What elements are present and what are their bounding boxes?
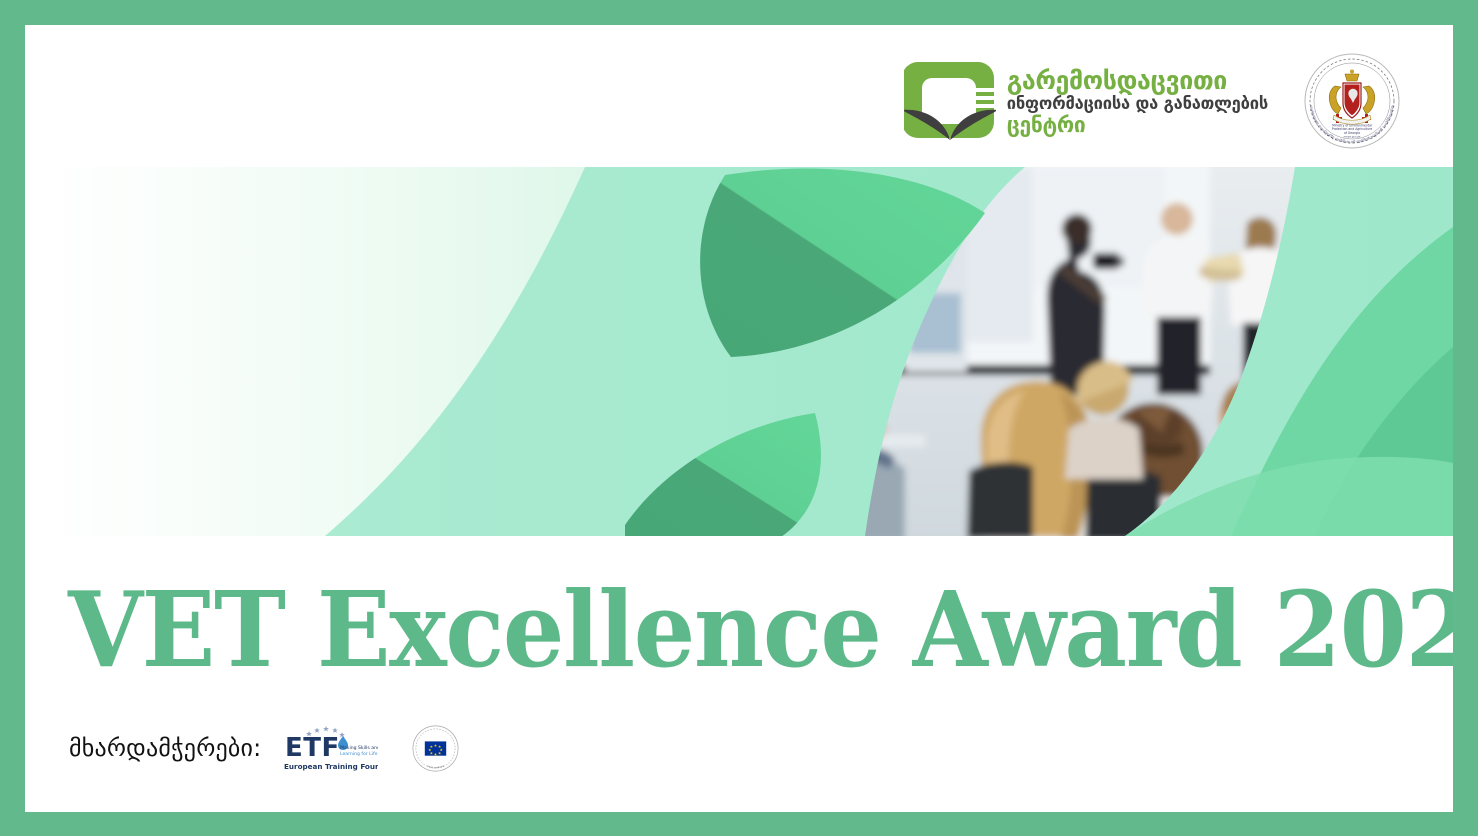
header-bar: გარემოსდაცვითი ინფორმაციისა და განათლები… bbox=[25, 25, 1453, 167]
etf-logo[interactable]: ETF Making Skills and Learning for Life … bbox=[283, 722, 378, 774]
supporters-label: მხარდამჭერები: bbox=[69, 734, 261, 762]
hero-banner bbox=[25, 167, 1453, 536]
eiec-logo-line3: ცენტრი bbox=[1007, 115, 1268, 136]
header-logo-row: გარემოსდაცვითი ინფორმაციისა და განათლები… bbox=[904, 53, 1400, 149]
eiec-logo-line2: ინფორმაციისა და განათლების bbox=[1007, 96, 1268, 113]
title-band: VET Excellence Award 2022 მხარდამჭერები: bbox=[25, 536, 1453, 812]
etf-tagline-line1: Making Skills and bbox=[340, 745, 378, 751]
etf-acronym: ETF bbox=[285, 733, 340, 763]
supporters-row: მხარდამჭერები: ETF bbox=[69, 722, 459, 774]
seal-caption-line4: mepa.gov.ge bbox=[1344, 136, 1361, 139]
eiec-book-leaf-icon bbox=[904, 58, 996, 144]
poster-inner-canvas: გარემოსდაცვითი ინფორმაციისა და განათლები… bbox=[25, 25, 1453, 812]
eiec-logo-text: გარემოსდაცვითი ინფორმაციისა და განათლები… bbox=[1007, 66, 1268, 136]
hero-artwork bbox=[25, 167, 1453, 536]
eiec-logo-line1: გარემოსდაცვითი bbox=[1007, 68, 1268, 93]
poster-frame: გარემოსდაცვითი ინფორმაციისა და განათლები… bbox=[0, 0, 1478, 836]
ministry-seal-icon[interactable]: Ministry of Environmental Protection and… bbox=[1304, 53, 1400, 149]
etf-full-name: European Training Foundation bbox=[284, 762, 378, 771]
eiec-logo[interactable]: გარემოსდაცვითი ინფორმაციისა და განათლები… bbox=[904, 58, 1268, 144]
page-title: VET Excellence Award 2022 bbox=[68, 578, 1453, 682]
seal-caption-line3: of Georgia bbox=[1344, 131, 1360, 135]
european-union-badge-icon[interactable]: European Union bbox=[412, 725, 459, 772]
etf-tagline-line2: Learning for Life bbox=[340, 751, 378, 757]
